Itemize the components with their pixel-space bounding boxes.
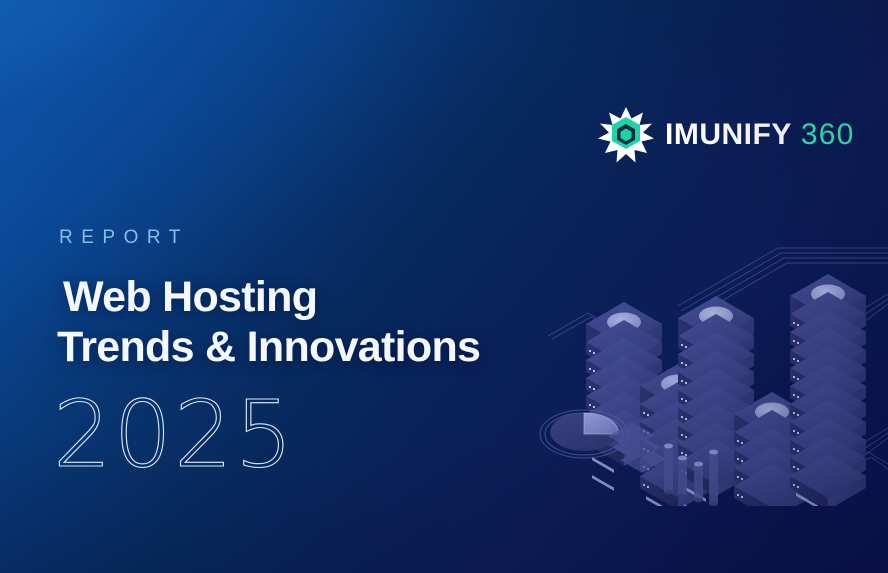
imunify-starburst-shield-icon (596, 105, 656, 165)
logo-wordmark: IMUNIFY 360 (665, 120, 854, 150)
title-line-1: Web Hosting (63, 273, 537, 323)
title-line-2: Trends & Innovations (57, 323, 537, 373)
bar (678, 456, 687, 499)
logo-imunify-text: IMUNIFY (665, 120, 792, 150)
bar (709, 450, 718, 506)
data-slabs (608, 422, 666, 473)
server-rack-3 (678, 296, 754, 506)
eyebrow-label: REPORT (59, 228, 537, 247)
server-rack-1 (586, 302, 662, 491)
report-cover: IMUNIFY 360 REPORT Web Hosting Trends & … (0, 0, 888, 573)
server-rack-2 (640, 364, 716, 506)
circuit-nodes (646, 416, 749, 453)
page-title: Web Hosting Trends & Innovations (57, 273, 537, 373)
logo-360-text: 360 (801, 120, 855, 150)
isometric-data-center-illustration (528, 186, 888, 506)
rack-stack (586, 320, 662, 491)
bar-chart (664, 444, 718, 506)
rack-unit (586, 302, 662, 362)
imunify360-logo[interactable]: IMUNIFY 360 (596, 104, 836, 166)
server-rack-4 (734, 392, 810, 506)
bar (694, 462, 703, 503)
circuit-traces (548, 248, 888, 481)
report-year: 2025 (53, 389, 537, 481)
cover-text-block: REPORT Web Hosting Trends & Innovations … (57, 228, 537, 481)
bar (664, 444, 673, 495)
server-rack-5 (790, 274, 866, 506)
pie-chart (540, 410, 628, 458)
